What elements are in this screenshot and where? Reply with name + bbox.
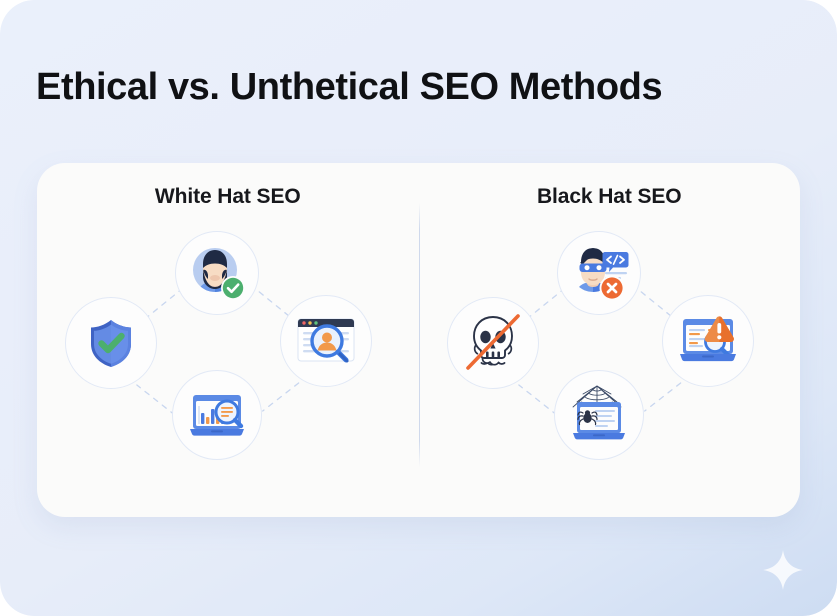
white-hat-diagram bbox=[37, 215, 419, 505]
skull-crossbones-blocked-icon bbox=[460, 310, 526, 376]
node-masked-hacker bbox=[557, 231, 641, 315]
slide-root: Ethical vs. Unthetical SEO Methods White… bbox=[0, 0, 837, 616]
page-title: Ethical vs. Unthetical SEO Methods bbox=[36, 66, 662, 109]
node-laptop-analytics bbox=[172, 370, 262, 460]
column-title-white-hat: White Hat SEO bbox=[37, 185, 419, 209]
verified-person-icon bbox=[187, 243, 247, 303]
node-laptop-warning bbox=[662, 295, 754, 387]
node-laptop-spider bbox=[554, 370, 644, 460]
browser-search-user-icon bbox=[294, 312, 358, 370]
column-black-hat: Black Hat SEO bbox=[419, 163, 801, 517]
black-hat-diagram bbox=[419, 215, 801, 505]
sparkle-icon bbox=[761, 548, 805, 592]
node-shield-check bbox=[65, 297, 157, 389]
node-verified-person bbox=[175, 231, 259, 315]
column-white-hat: White Hat SEO bbox=[37, 163, 419, 517]
shield-check-icon bbox=[83, 315, 139, 371]
column-title-black-hat: Black Hat SEO bbox=[419, 185, 801, 209]
laptop-spider-web-icon bbox=[567, 385, 631, 445]
node-skull-blocked bbox=[447, 297, 539, 389]
laptop-analytics-icon bbox=[186, 387, 248, 443]
slide-surface: Ethical vs. Unthetical SEO Methods White… bbox=[0, 0, 837, 616]
laptop-warning-icon bbox=[675, 312, 741, 370]
masked-hacker-code-icon bbox=[568, 243, 630, 303]
comparison-card: White Hat SEO bbox=[37, 163, 800, 517]
node-browser-search bbox=[280, 295, 372, 387]
